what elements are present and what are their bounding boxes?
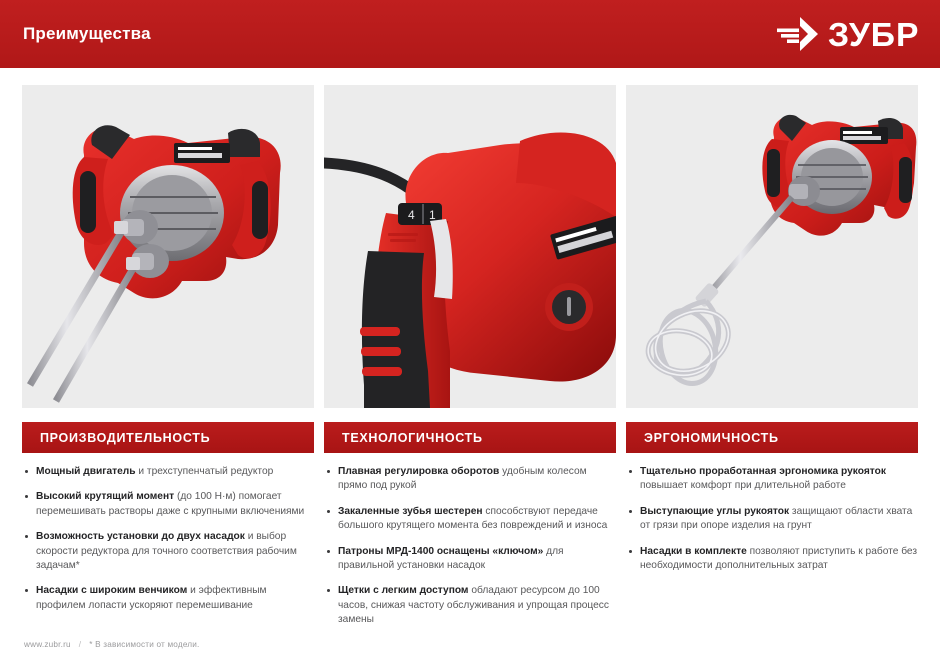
section-heading-ergonomics: ЭРГОНОМИЧНОСТЬ xyxy=(626,422,918,453)
photo-mixer-with-dual-paddles xyxy=(22,85,314,408)
footer-separator: / xyxy=(79,640,81,649)
photo-column-1 xyxy=(22,85,314,410)
section-technology: ТЕХНОЛОГИЧНОСТЬ Плавная регулировка обор… xyxy=(324,422,616,639)
zubr-diamond-arrow-logo-icon xyxy=(775,15,819,53)
list-item: Насадки с широким венчиком и эффективным… xyxy=(22,584,314,613)
section-performance: ПРОИЗВОДИТЕЛЬНОСТЬ Мощный двигатель и тр… xyxy=(22,422,314,639)
bullet-list-performance: Мощный двигатель и трехступенчатый редук… xyxy=(22,465,314,613)
section-heading-technology: ТЕХНОЛОГИЧНОСТЬ xyxy=(324,422,616,453)
advantages-sections: ПРОИЗВОДИТЕЛЬНОСТЬ Мощный двигатель и тр… xyxy=(22,422,918,639)
page-footer: www.zubr.ru / * В зависимости от модели. xyxy=(24,640,200,649)
page-header: Преимущества ЗУБР xyxy=(0,0,940,68)
footer-website[interactable]: www.zubr.ru xyxy=(24,640,71,649)
advantages-page: Преимущества ЗУБР xyxy=(0,0,940,664)
list-item: Возможность установки до двух насадок и … xyxy=(22,530,314,573)
footer-note: * В зависимости от модели. xyxy=(89,640,199,649)
list-item: Выступающие углы рукояток защищают облас… xyxy=(626,505,918,534)
list-item: Плавная регулировка оборотов удобным кол… xyxy=(324,465,616,494)
photo-row: 4 1 xyxy=(22,85,918,410)
list-item: Высокий крутящий момент (до 100 Н·м) пом… xyxy=(22,490,314,519)
list-item: Тщательно проработанная эргономика рукоя… xyxy=(626,465,918,494)
speed-label-4: 4 xyxy=(408,208,415,222)
list-item: Мощный двигатель и трехступенчатый редук… xyxy=(22,465,314,479)
bullet-list-ergonomics: Тщательно проработанная эргономика рукоя… xyxy=(626,465,918,573)
section-ergonomics: ЭРГОНОМИЧНОСТЬ Тщательно проработанная э… xyxy=(626,422,918,639)
section-heading-performance: ПРОИЗВОДИТЕЛЬНОСТЬ xyxy=(22,422,314,453)
speed-label-1: 1 xyxy=(429,208,436,222)
list-item: Насадки в комплекте позволяют приступить… xyxy=(626,545,918,574)
brand-logo: ЗУБР xyxy=(775,14,918,54)
photo-column-2: 4 1 xyxy=(324,85,616,410)
list-item: Закаленные зубья шестерен способствуют п… xyxy=(324,505,616,534)
photo-mixer-with-whisk-attachment xyxy=(626,85,918,408)
list-item: Патроны МРД-1400 оснащены «ключом» для п… xyxy=(324,545,616,574)
list-item: Щетки с легким доступом обладают ресурсо… xyxy=(324,584,616,627)
page-title: Преимущества xyxy=(23,24,151,44)
photo-column-3 xyxy=(626,85,918,410)
brand-wordmark: ЗУБР xyxy=(828,18,919,51)
bullet-list-technology: Плавная регулировка оборотов удобным кол… xyxy=(324,465,616,628)
photo-handle-and-speed-selector-closeup: 4 1 xyxy=(324,85,616,408)
